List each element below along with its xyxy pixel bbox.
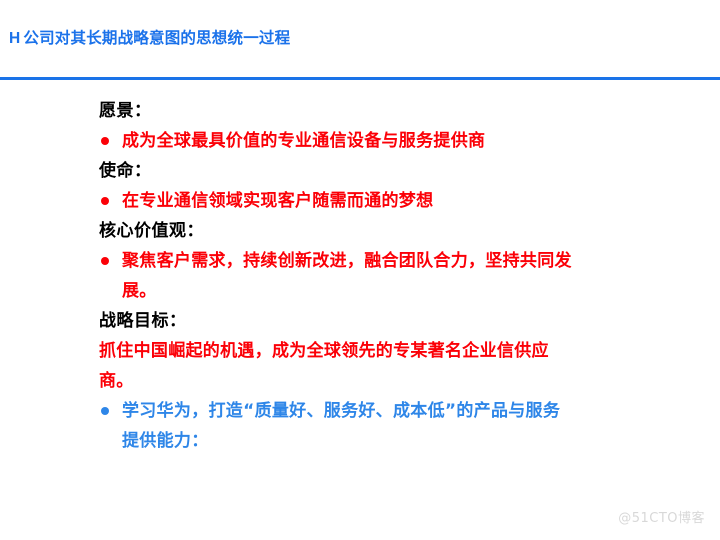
section-heading: 使命： bbox=[99, 156, 580, 186]
slide: H公司对其长期战略意图的思想统一过程 愿景： 成为全球最具价值的专业通信设备与服… bbox=[0, 0, 720, 540]
bullet-text: 在专业通信领域实现客户随需而通的梦想 bbox=[122, 191, 433, 211]
bullet-text: 聚焦客户需求，持续创新改进，融合团队合力，坚持共同发展。 bbox=[122, 251, 572, 301]
section-heading: 战略目标： bbox=[99, 306, 580, 336]
section-heading: 核心价值观： bbox=[99, 216, 580, 246]
section-paragraph: 抓住中国崛起的机遇，成为全球领先的专某著名企业信供应商。 bbox=[99, 336, 577, 396]
bullet-dot-icon bbox=[101, 257, 109, 265]
bullet-dot-icon bbox=[101, 197, 109, 205]
bullet-text: 成为全球最具价值的专业通信设备与服务提供商 bbox=[122, 131, 485, 151]
slide-header: H公司对其长期战略意图的思想统一过程 bbox=[0, 0, 720, 80]
header-divider bbox=[0, 77, 720, 80]
bullet-dot-icon bbox=[101, 407, 109, 415]
section-vision: 愿景： 成为全球最具价值的专业通信设备与服务提供商 bbox=[0, 96, 720, 156]
page-title-text: 公司对其长期战略意图的思想统一过程 bbox=[23, 29, 290, 47]
bullet-dot-icon bbox=[101, 137, 109, 145]
section-heading: 愿景： bbox=[99, 96, 580, 126]
page-title-prefix: H bbox=[9, 30, 20, 47]
watermark: @51CTO博客 bbox=[618, 507, 705, 526]
page-title: H公司对其长期战略意图的思想统一过程 bbox=[9, 26, 290, 48]
section-strategic-goal: 战略目标： 抓住中国崛起的机遇，成为全球领先的专某著名企业信供应商。 学习华为，… bbox=[0, 306, 720, 456]
section-mission: 使命： 在专业通信领域实现客户随需而通的梦想 bbox=[0, 156, 720, 216]
bullet-item: 在专业通信领域实现客户随需而通的梦想 bbox=[99, 186, 577, 216]
slide-content: 愿景： 成为全球最具价值的专业通信设备与服务提供商 使命： 在专业通信领域实现客… bbox=[0, 96, 720, 456]
bullet-text: 学习华为，打造“质量好、服务好、成本低”的产品与服务提供能力： bbox=[122, 401, 560, 451]
bullet-item: 聚焦客户需求，持续创新改进，融合团队合力，坚持共同发展。 bbox=[99, 246, 577, 306]
bullet-item: 成为全球最具价值的专业通信设备与服务提供商 bbox=[99, 126, 577, 156]
bullet-item: 学习华为，打造“质量好、服务好、成本低”的产品与服务提供能力： bbox=[99, 396, 577, 456]
section-core-values: 核心价值观： 聚焦客户需求，持续创新改进，融合团队合力，坚持共同发展。 bbox=[0, 216, 720, 306]
